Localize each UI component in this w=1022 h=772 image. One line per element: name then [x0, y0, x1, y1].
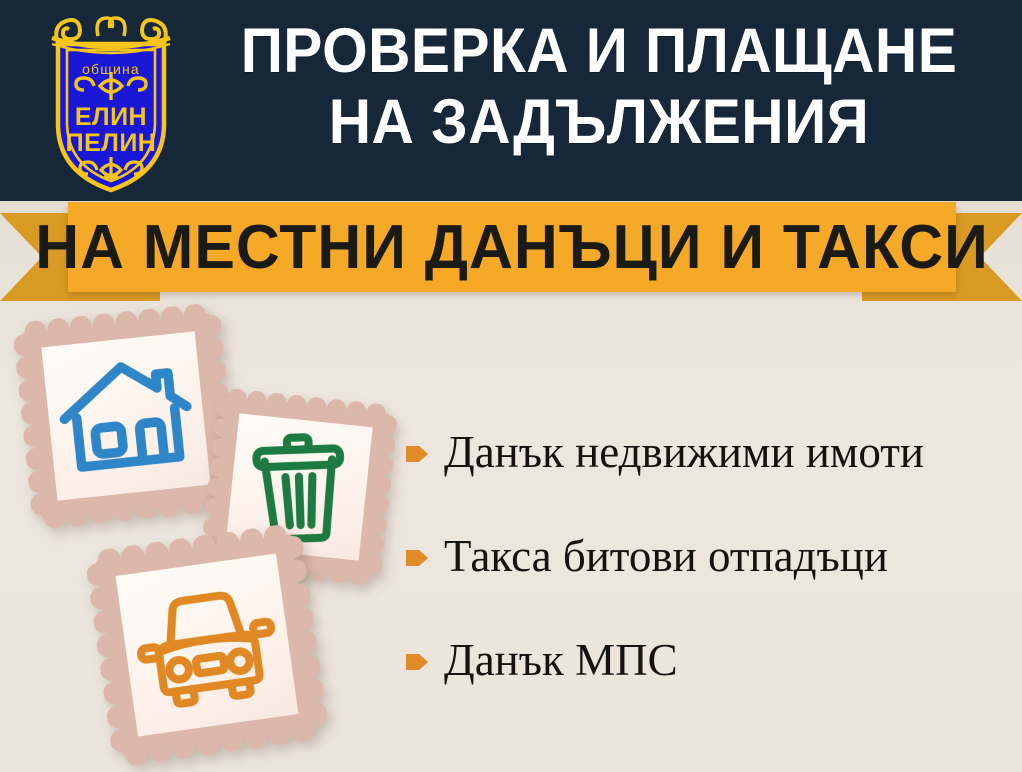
car-icon [116, 554, 298, 736]
arrow-bullet-icon [404, 649, 430, 675]
arrow-bullet-icon [404, 441, 430, 467]
page-title: ПРОВЕРКА И ПЛАЩАНЕ НА ЗАДЪЛЖЕНИЯ [219, 16, 980, 158]
poster-canvas: ПРОВЕРКА И ПЛАЩАНЕ НА ЗАДЪЛЖЕНИЯ община [0, 0, 1022, 772]
municipality-logo: община ЕЛИН ПЕЛИН [38, 8, 184, 196]
crest-text-line-1: ЕЛИН [75, 103, 147, 131]
arrow-bullet-icon [404, 545, 430, 571]
list-item[interactable]: Данък недвижими имоти [404, 424, 1004, 480]
list-item-label: Такса битови отпадъци [444, 531, 888, 581]
crest-text-line-2: ПЕЛИН [66, 129, 157, 157]
list-item-label: Данък МПС [444, 635, 678, 685]
ribbon-banner: НА МЕСТНИ ДАНЪЦИ И ТАКСИ [0, 196, 1022, 308]
list-item-label: Данък недвижими имоти [444, 427, 924, 477]
house-icon [41, 331, 210, 500]
page-title-line-1: ПРОВЕРКА И ПЛАЩАНЕ [219, 16, 980, 87]
page-title-line-2: НА ЗАДЪЛЖЕНИЯ [219, 87, 980, 158]
tax-type-list: Данък недвижими имоти Такса битови отпад… [404, 424, 1004, 736]
crest-icon: община ЕЛИН ПЕЛИН [38, 8, 184, 196]
stamp-card-vehicle [84, 522, 330, 768]
ribbon-label: НА МЕСТНИ ДАНЪЦИ И ТАКСИ [77, 202, 947, 292]
list-item[interactable]: Такса битови отпадъци [404, 528, 1004, 584]
list-item[interactable]: Данък МПС [404, 632, 1004, 688]
